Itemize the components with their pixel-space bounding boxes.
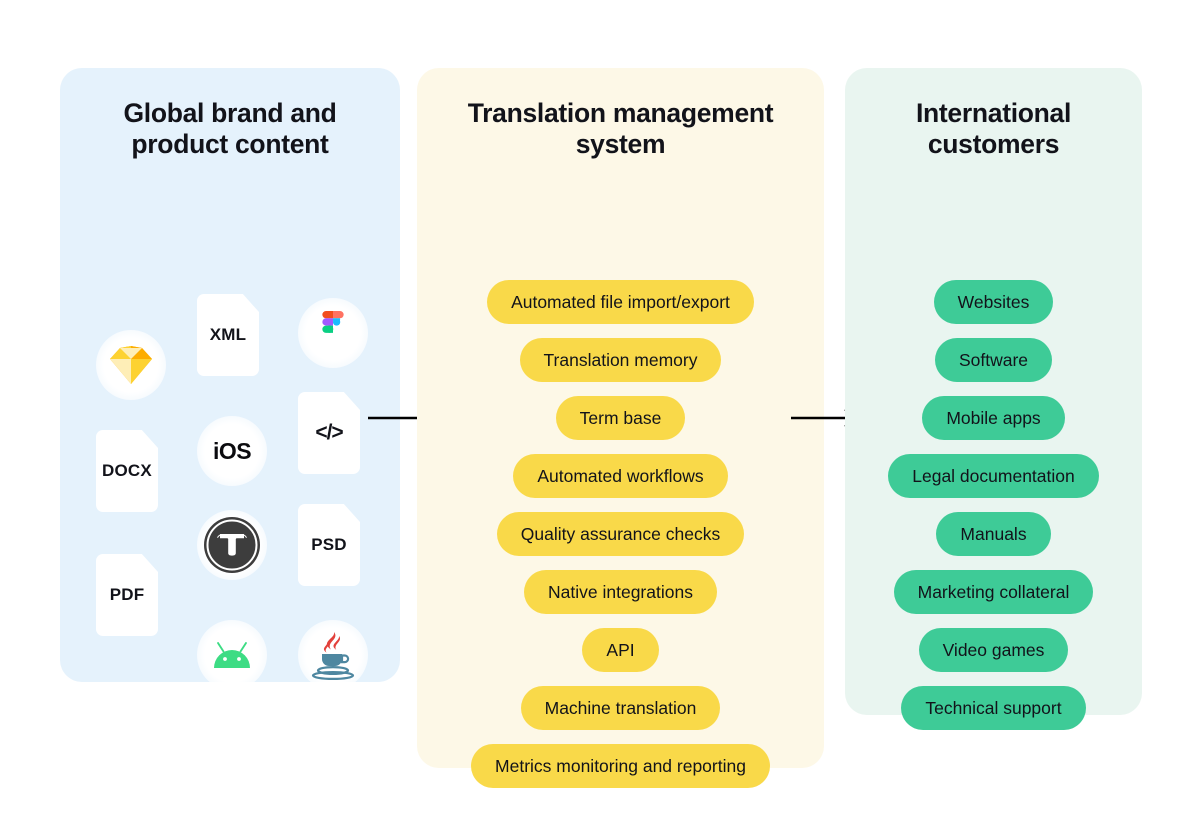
- docx-file-shape: DOCX: [96, 430, 158, 512]
- customer-output-pill-4[interactable]: Manuals: [936, 512, 1050, 556]
- panel-middle-title: Translation management system: [417, 68, 824, 160]
- android-icon-circle: [197, 620, 267, 690]
- wordpress-icon-circle: [197, 510, 267, 580]
- ios-icon-circle: iOS: [197, 416, 267, 486]
- wordpress-glyph: [203, 516, 261, 574]
- wordpress-icon: [197, 510, 269, 582]
- customer-output-pill-3[interactable]: Legal documentation: [888, 454, 1098, 498]
- docx-file-icon: DOCX: [96, 430, 158, 512]
- source-format-icon-grid: XML DOCX: [60, 264, 400, 714]
- pdf-file-icon: PDF: [96, 554, 158, 636]
- customer-output-pill-6[interactable]: Video games: [919, 628, 1069, 672]
- android-glyph: [211, 641, 253, 669]
- code-file-icon: </>: [298, 392, 360, 474]
- customer-output-list: WebsitesSoftwareMobile appsLegal documen…: [845, 280, 1142, 744]
- sketch-icon: [96, 330, 168, 402]
- tms-feature-pill-5[interactable]: Native integrations: [524, 570, 717, 614]
- panel-source-content: Global brand and product content XML: [60, 68, 400, 682]
- panel-right-title: International customers: [845, 68, 1142, 160]
- xml-file-shape: XML: [197, 294, 259, 376]
- psd-file-icon: PSD: [298, 504, 360, 586]
- tms-feature-pill-1[interactable]: Translation memory: [520, 338, 722, 382]
- figma-glyph: [318, 311, 348, 355]
- sketch-icon-circle: [96, 330, 166, 400]
- java-icon-circle: [298, 620, 368, 690]
- code-file-shape: </>: [298, 392, 360, 474]
- pdf-file-shape: PDF: [96, 554, 158, 636]
- tms-feature-pill-3[interactable]: Automated workflows: [513, 454, 727, 498]
- panel-international-customers: International customers WebsitesSoftware…: [845, 68, 1142, 715]
- java-icon: [298, 620, 370, 692]
- android-icon: [197, 620, 269, 692]
- tms-feature-pill-4[interactable]: Quality assurance checks: [497, 512, 744, 556]
- customer-output-pill-5[interactable]: Marketing collateral: [894, 570, 1094, 614]
- diagram-canvas: Global brand and product content XML: [0, 0, 1200, 838]
- java-glyph: [310, 630, 356, 680]
- ios-icon: iOS: [197, 416, 269, 488]
- tms-feature-pill-7[interactable]: Machine translation: [521, 686, 721, 730]
- tms-feature-pill-8[interactable]: Metrics monitoring and reporting: [471, 744, 770, 788]
- figma-icon: [298, 298, 370, 370]
- figma-icon-circle: [298, 298, 368, 368]
- customer-output-pill-7[interactable]: Technical support: [901, 686, 1085, 730]
- customer-output-pill-0[interactable]: Websites: [934, 280, 1054, 324]
- sketch-glyph: [109, 345, 153, 385]
- customer-output-pill-1[interactable]: Software: [935, 338, 1052, 382]
- tms-feature-list: Automated file import/exportTranslation …: [417, 280, 824, 802]
- panel-left-title: Global brand and product content: [60, 68, 400, 160]
- tms-feature-pill-6[interactable]: API: [582, 628, 658, 672]
- customer-output-pill-2[interactable]: Mobile apps: [922, 396, 1064, 440]
- tms-feature-pill-2[interactable]: Term base: [556, 396, 686, 440]
- ios-icon-label: iOS: [213, 438, 251, 465]
- tms-feature-pill-0[interactable]: Automated file import/export: [487, 280, 754, 324]
- panel-translation-management-system: Translation management system Automated …: [417, 68, 824, 768]
- xml-file-icon: XML: [197, 294, 259, 376]
- psd-file-shape: PSD: [298, 504, 360, 586]
